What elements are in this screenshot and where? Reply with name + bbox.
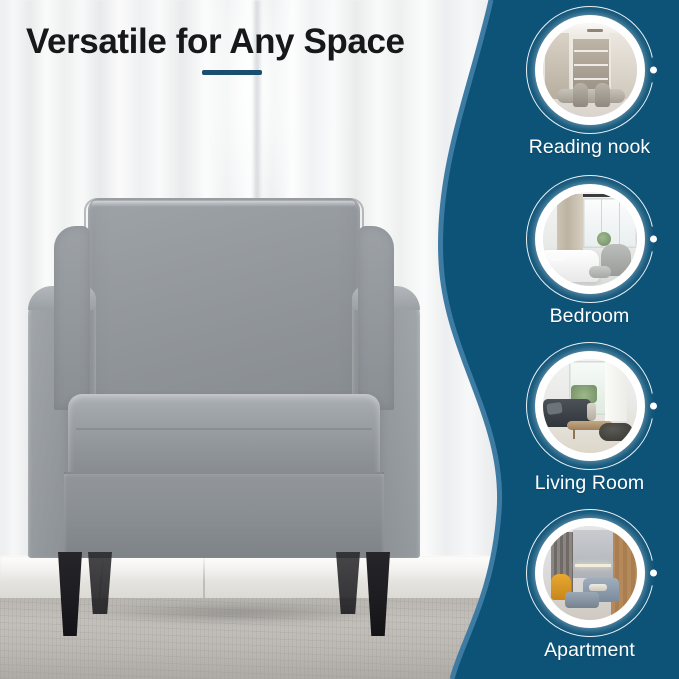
page-title: Versatile for Any Space	[26, 22, 405, 62]
armchair-arm-inner-left	[54, 226, 90, 410]
armchair-seat-cushion	[68, 394, 380, 478]
use-case-label-living-room: Living Room	[500, 472, 679, 495]
armchair-leg-front-left	[58, 552, 82, 636]
title-underline-accent	[202, 70, 262, 75]
use-case-rail: Reading nook	[500, 0, 679, 679]
medallion-photo-living-room	[543, 359, 637, 453]
armchair-leg-rear-right	[336, 552, 360, 614]
medallion-bedroom	[526, 175, 654, 303]
armchair-base-skirt	[64, 472, 384, 558]
product-feature-poster: Reading nook	[0, 0, 679, 679]
use-case-item-living-room[interactable]: Living Room	[500, 342, 679, 512]
product-photo	[0, 0, 520, 679]
medallion-accent-dot-icon	[650, 403, 657, 410]
medallion-accent-dot-icon	[650, 236, 657, 243]
medallion-accent-dot-icon	[650, 67, 657, 74]
use-case-item-reading-nook[interactable]: Reading nook	[500, 6, 679, 176]
medallion-photo-bedroom	[543, 192, 637, 286]
armchair-leg-front-right	[366, 552, 390, 636]
medallion-reading-nook	[526, 6, 654, 134]
medallion-apartment	[526, 509, 654, 637]
use-case-item-bedroom[interactable]: Bedroom	[500, 175, 679, 345]
use-case-label-reading-nook: Reading nook	[500, 136, 679, 159]
medallion-photo-apartment	[543, 526, 637, 620]
armchair-arm-inner-right	[358, 226, 394, 410]
medallion-photo-reading-nook	[543, 23, 637, 117]
armchair-leg-rear-left	[88, 552, 112, 614]
medallion-living-room	[526, 342, 654, 470]
use-case-label-bedroom: Bedroom	[500, 305, 679, 328]
armchair	[28, 198, 420, 636]
medallion-accent-dot-icon	[650, 570, 657, 577]
use-case-item-apartment[interactable]: Apartment	[500, 509, 679, 679]
use-case-label-apartment: Apartment	[500, 639, 679, 662]
